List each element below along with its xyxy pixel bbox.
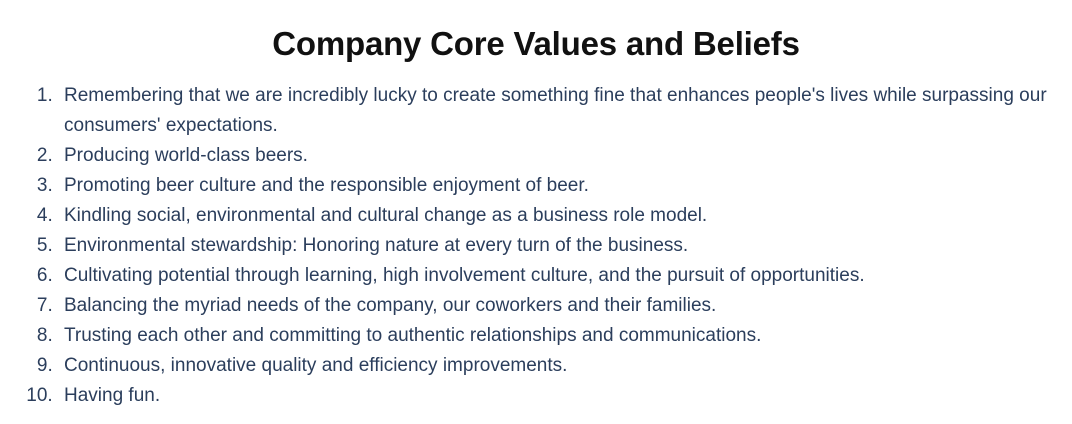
list-item-text: Having fun. (64, 385, 160, 406)
list-item: Trusting each other and committing to au… (58, 321, 1052, 351)
list-item-text: Producing world-class beers. (64, 145, 308, 166)
list-item: Environmental stewardship: Honoring natu… (58, 231, 1052, 261)
list-item: Having fun. (58, 381, 1052, 411)
list-item-text: Remembering that we are incredibly lucky… (64, 85, 1047, 136)
list-item: Promoting beer culture and the responsib… (58, 171, 1052, 201)
document-page: Company Core Values and Beliefs Remember… (0, 0, 1072, 424)
list-item-text: Kindling social, environmental and cultu… (64, 205, 707, 226)
list-item-text: Continuous, innovative quality and effic… (64, 355, 567, 376)
list-item: Producing world-class beers. (58, 141, 1052, 171)
list-item-text: Balancing the myriad needs of the compan… (64, 295, 716, 316)
list-item-text: Environmental stewardship: Honoring natu… (64, 235, 688, 256)
list-item: Balancing the myriad needs of the compan… (58, 291, 1052, 321)
core-values-list: Remembering that we are incredibly lucky… (0, 81, 1072, 411)
list-item: Remembering that we are incredibly lucky… (58, 81, 1052, 141)
list-item-text: Cultivating potential through learning, … (64, 265, 865, 286)
list-item: Cultivating potential through learning, … (58, 261, 1052, 291)
list-item-text: Trusting each other and committing to au… (64, 325, 761, 346)
page-title: Company Core Values and Beliefs (0, 27, 1072, 60)
list-item: Kindling social, environmental and cultu… (58, 201, 1052, 231)
list-item: Continuous, innovative quality and effic… (58, 351, 1052, 381)
list-item-text: Promoting beer culture and the responsib… (64, 175, 589, 196)
